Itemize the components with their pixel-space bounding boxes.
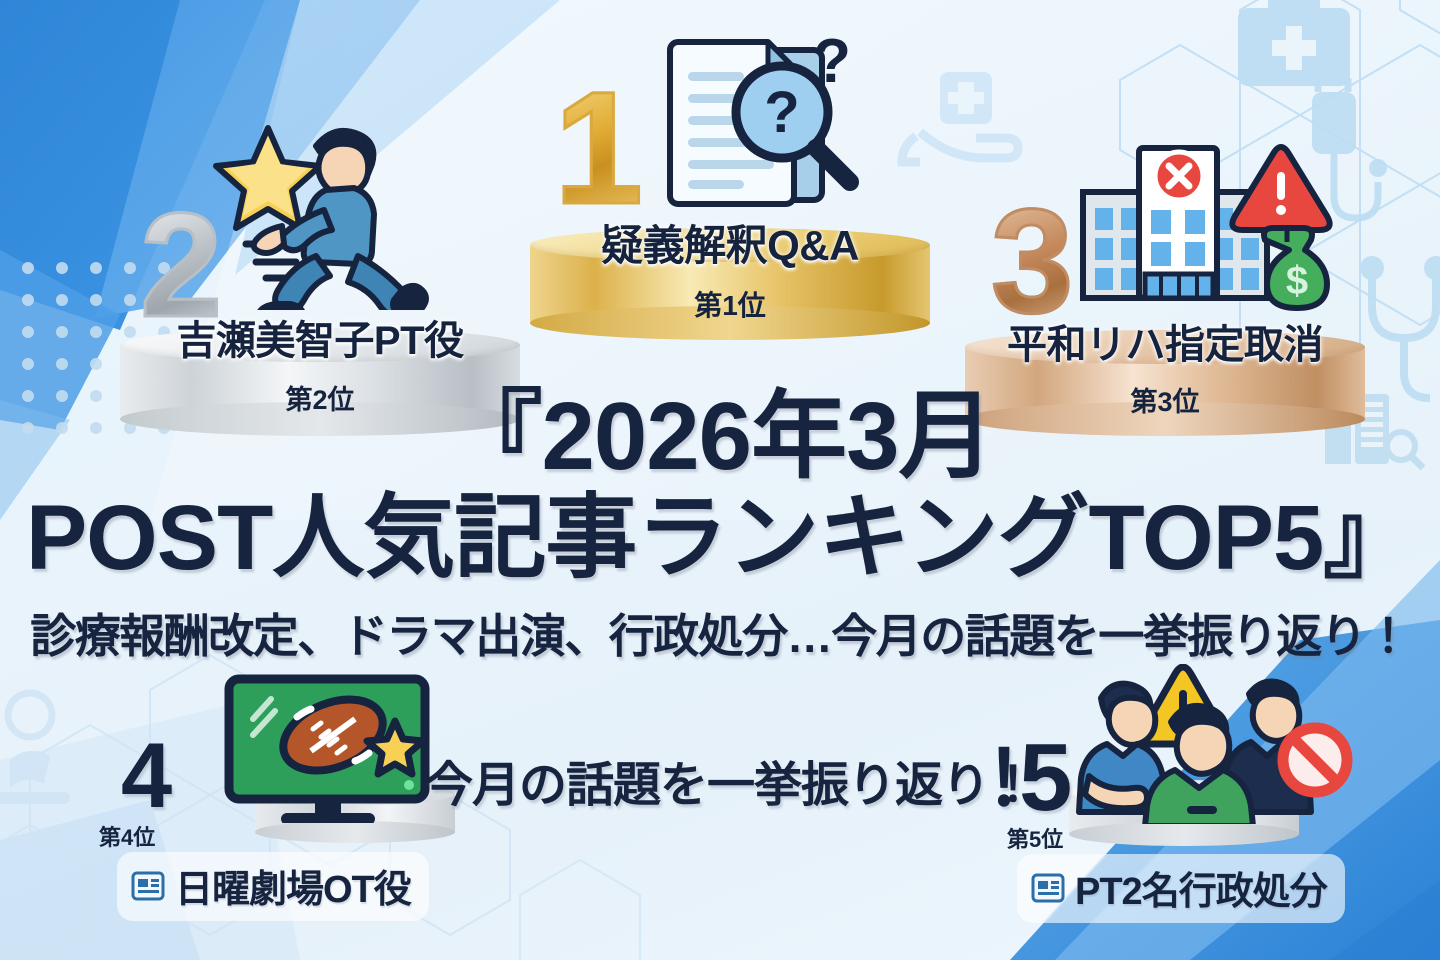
rank-5-title: PT2名行政処分 [1075,860,1327,915]
rank-digit-1: 1 [554,68,643,228]
tv-football-star-icon [223,673,453,823]
rank-3-title: 平和リハ指定取消 [965,312,1365,370]
svg-text:?: ? [813,27,851,96]
rank-4-title: 日曜劇場OT役 [175,858,411,913]
rank-5-pill: PT2名行政処分 [1017,854,1345,923]
news-article-icon [1031,871,1065,905]
rank-4-place: 第4位 [99,820,155,852]
rank-2-title: 吉瀬美智子PT役 [120,308,520,366]
rank-4-pill: 日曜劇場OT役 [117,852,429,921]
center-caption: 今月の話題を一挙振り返り！ [425,745,1036,815]
poster-title: 『2026年3月 POST人気記事ランキングTOP5』 診療報酬改定、ドラマ出演… [0,388,1440,666]
news-article-icon [131,869,165,903]
poster-subtitle: 診療報酬改定、ドラマ出演、行政処分…今月の話題を一挙振り返り！ [0,600,1440,666]
svg-text:$: $ [1286,259,1308,303]
rank-digit-4: 4 [121,730,172,822]
first-aid-kit-icon [1238,0,1350,86]
people-warning-ban-icon [1067,664,1357,824]
rank-1-place: 第1位 [530,284,930,324]
rank-1-title: 疑義解釈Q&A [530,212,930,273]
rank-5-block: ！ 5 第5位 PT2名行政処分 [985,660,1415,930]
poster-canvas: 2 吉瀬美智子PT役 第2位 [0,0,1440,960]
svg-text:?: ? [764,80,799,145]
title-line-1: 『2026年3月 [0,388,1440,486]
title-line-2: POST人気記事ランキングTOP5』 [0,492,1440,586]
rank-5-place: 第5位 [1007,822,1063,854]
